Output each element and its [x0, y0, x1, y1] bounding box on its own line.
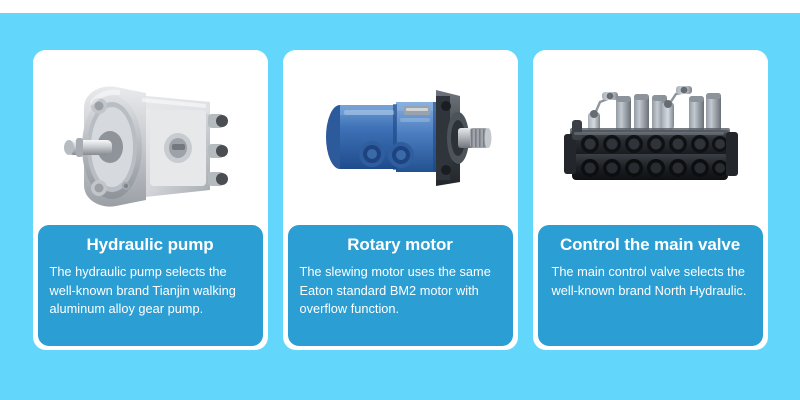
card-caption-panel: Hydraulic pump The hydraulic pump select…	[38, 225, 263, 346]
card-caption-panel: Control the main valve The main control …	[538, 225, 763, 346]
rotary-slewing-motor-photo	[300, 62, 500, 212]
card-description: The main control valve selects the well-…	[549, 263, 752, 300]
card-title: Rotary motor	[299, 234, 502, 255]
product-feature-page: Hydraulic pump The hydraulic pump select…	[0, 0, 800, 400]
card-caption-panel: Rotary motor The slewing motor uses the …	[288, 225, 513, 346]
card-image-area	[283, 50, 518, 223]
card-title: Hydraulic pump	[49, 234, 252, 255]
product-card[interactable]: Hydraulic pump The hydraulic pump select…	[33, 50, 268, 350]
card-description: The slewing motor uses the same Eaton st…	[299, 263, 502, 319]
card-image-area	[533, 50, 768, 223]
product-card[interactable]: Control the main valve The main control …	[533, 50, 768, 350]
product-card-row: Hydraulic pump The hydraulic pump select…	[0, 13, 800, 400]
card-title: Control the main valve	[549, 234, 752, 255]
control-main-valve-photo	[550, 62, 750, 212]
product-card[interactable]: Rotary motor The slewing motor uses the …	[283, 50, 518, 350]
card-description: The hydraulic pump selects the well-know…	[49, 263, 252, 319]
hydraulic-gear-pump-photo	[50, 62, 250, 212]
card-image-area	[33, 50, 268, 223]
